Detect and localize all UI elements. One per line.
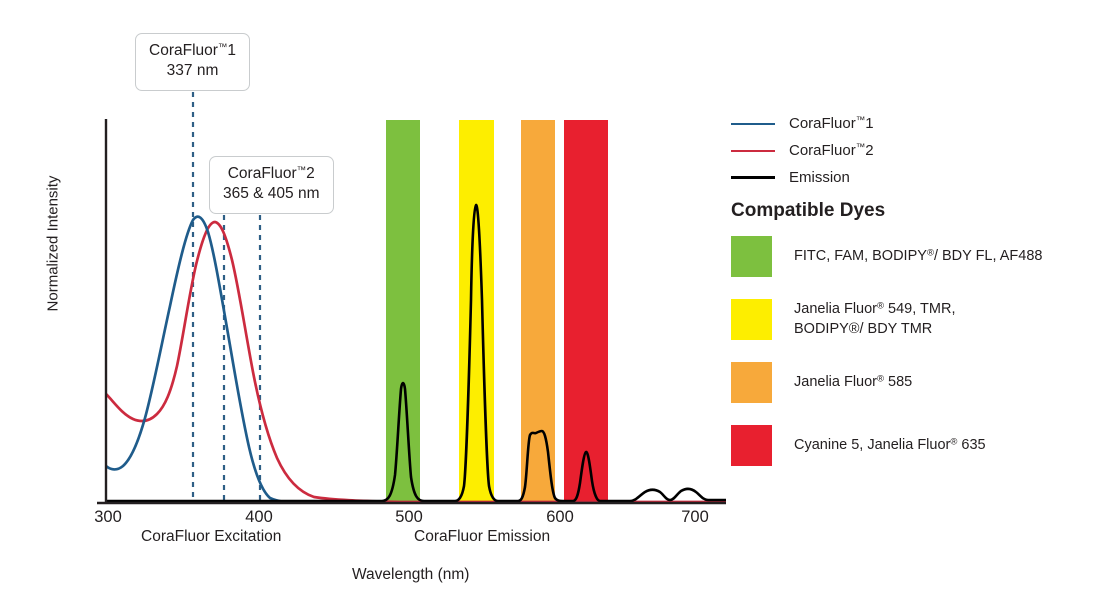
x-axis-title: Wavelength (nm): [352, 566, 469, 584]
band-jf585: [521, 120, 555, 502]
excitation-range-label: CoraFluor Excitation: [141, 528, 281, 546]
excitation-markers: [193, 92, 260, 503]
dye-label-jf549: Janelia Fluor® 549, TMR,BODIPY®/ BDY TMR: [794, 300, 955, 339]
registered-icon: ®: [877, 373, 884, 384]
callout-corafluor2-name: CoraFluor: [228, 165, 297, 182]
dye-item-fitc: FITC, FAM, BODIPY®/ BDY FL, AF488: [731, 236, 1101, 277]
legend-label-corafluor1: CoraFluor™1: [789, 115, 874, 132]
fluorescence-spectra-figure: Normalized Intensity 300 400 500 600 700…: [0, 0, 1110, 612]
x-tick-500: 500: [395, 508, 423, 527]
y-axis-title: Normalized Intensity: [45, 164, 62, 324]
dye-color-swatch-yellow: [731, 299, 772, 340]
dye-item-jf549: Janelia Fluor® 549, TMR,BODIPY®/ BDY TMR: [731, 299, 1101, 340]
legend-line-swatch: [731, 150, 775, 152]
dye-label-cy5: Cyanine 5, Janelia Fluor® 635: [794, 436, 986, 455]
dye-color-swatch-orange: [731, 362, 772, 403]
dye-color-swatch-green: [731, 236, 772, 277]
registered-icon: ®: [927, 247, 934, 258]
legend-label-corafluor2: CoraFluor™2: [789, 142, 874, 159]
dye-label-fitc: FITC, FAM, BODIPY®/ BDY FL, AF488: [794, 247, 1042, 266]
dye-item-jf585: Janelia Fluor® 585: [731, 362, 1101, 403]
legend-item-emission: Emission: [731, 164, 1091, 191]
legend-label-emission: Emission: [789, 169, 850, 186]
band-jf549: [459, 120, 494, 502]
x-tick-300: 300: [94, 508, 122, 527]
legend-line-swatch: [731, 176, 775, 179]
callout-corafluor1-wavelength: 337 nm: [149, 61, 236, 81]
legend-line-swatch: [731, 123, 775, 125]
dye-label-jf585: Janelia Fluor® 585: [794, 373, 912, 392]
x-tick-600: 600: [546, 508, 574, 527]
x-tick-700: 700: [681, 508, 709, 527]
band-cy5: [564, 120, 608, 502]
dye-color-swatch-red: [731, 425, 772, 466]
band-fitc: [386, 120, 420, 502]
emission-range-label: CoraFluor Emission: [414, 528, 550, 546]
trademark-icon: ™: [218, 42, 228, 53]
legend-item-corafluor2: CoraFluor™2: [731, 137, 1091, 164]
compatible-dyes-list: FITC, FAM, BODIPY®/ BDY FL, AF488 Janeli…: [731, 236, 1101, 488]
registered-icon: ®: [877, 300, 884, 311]
compatible-dyes-heading: Compatible Dyes: [731, 200, 885, 222]
callout-corafluor2: CoraFluor™2 365 & 405 nm: [209, 156, 334, 214]
callout-corafluor2-index: 2: [306, 165, 315, 182]
callout-corafluor2-wavelength: 365 & 405 nm: [223, 184, 320, 204]
callout-corafluor1-name: CoraFluor: [149, 42, 218, 59]
legend-item-corafluor1: CoraFluor™1: [731, 110, 1091, 137]
callout-corafluor1: CoraFluor™1 337 nm: [135, 33, 250, 91]
series-legend: CoraFluor™1 CoraFluor™2 Emission: [731, 110, 1091, 191]
x-tick-400: 400: [245, 508, 273, 527]
trademark-icon: ™: [297, 165, 307, 176]
trademark-icon: ™: [856, 142, 866, 153]
trademark-icon: ™: [856, 115, 866, 126]
dye-bands: [386, 120, 608, 502]
callout-corafluor1-index: 1: [227, 42, 236, 59]
dye-item-cy5: Cyanine 5, Janelia Fluor® 635: [731, 425, 1101, 466]
